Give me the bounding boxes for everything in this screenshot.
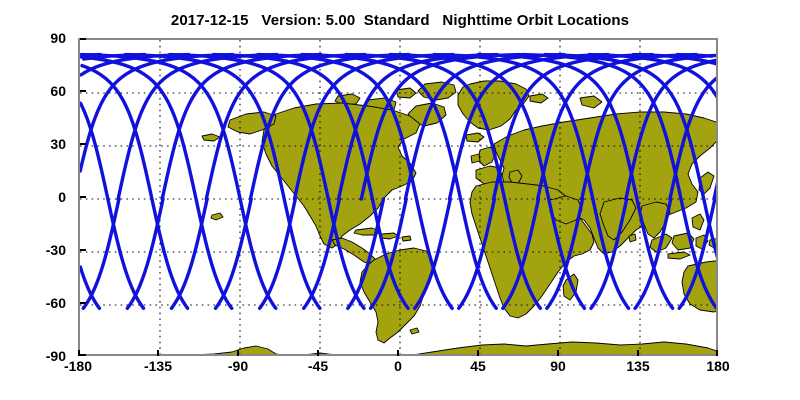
- xtick-label-45: 45: [448, 358, 508, 374]
- antarctica-shape: [80, 342, 718, 356]
- ytick-label-60: 60: [26, 83, 66, 99]
- iceland-shape: [466, 133, 484, 142]
- ytick-label--30: -30: [26, 242, 66, 258]
- xtick-label-90: 90: [528, 358, 588, 374]
- xtick-mark--90: [237, 350, 239, 356]
- xtick-mark--45: [317, 350, 319, 356]
- xtick-mark-90: [557, 350, 559, 356]
- svalbard-shape: [530, 94, 548, 103]
- xtick-label-180: 180: [688, 358, 748, 374]
- ireland-shape: [471, 154, 480, 163]
- ytick-mark-60: [80, 90, 86, 92]
- xtick-mark-135: [637, 350, 639, 356]
- xtick-label--90: -90: [208, 358, 268, 374]
- xtick-label-0: 0: [368, 358, 428, 374]
- ytick-label-0: 0: [26, 189, 66, 205]
- xtick-mark-0: [397, 350, 399, 356]
- sri-lanka-shape: [629, 234, 636, 242]
- ytick-label--60: -60: [26, 295, 66, 311]
- xtick-label--135: -135: [128, 358, 188, 374]
- philippines-shape: [692, 214, 704, 230]
- xtick-mark--135: [157, 350, 159, 356]
- orbit-track-segment: [589, 55, 718, 102]
- world-map-svg: [80, 40, 718, 356]
- xtick-mark--180: [78, 350, 80, 356]
- page-title: 2017-12-15 Version: 5.00 Standard Nightt…: [0, 12, 800, 29]
- ytick-mark-30: [80, 143, 86, 145]
- ytick-label-90: 90: [26, 30, 66, 46]
- falkland-islands-shape: [410, 328, 419, 334]
- ytick-mark-90: [80, 38, 86, 40]
- aleutian-islands-shape: [202, 134, 220, 141]
- orbit-track-segment: [80, 55, 233, 171]
- xtick-label--45: -45: [288, 358, 348, 374]
- plot-frame: [78, 38, 718, 356]
- ytick-label-30: 30: [26, 136, 66, 152]
- xtick-label--180: -180: [48, 358, 108, 374]
- java-shape: [668, 252, 690, 259]
- xtick-mark-45: [477, 350, 479, 356]
- orbit-track-segment: [714, 173, 718, 199]
- xtick-mark-180: [716, 350, 718, 356]
- orbit-map-figure: [78, 38, 718, 356]
- orbit-track-segment: [82, 66, 188, 309]
- ytick-mark--90: [80, 354, 86, 356]
- caribbean-island-small: [402, 236, 411, 241]
- hawaii-shape: [211, 213, 223, 220]
- novaya-zemlya-shape: [580, 96, 602, 108]
- ytick-mark--30: [80, 249, 86, 251]
- hispaniola-shape: [381, 233, 398, 239]
- ytick-mark--60: [80, 302, 86, 304]
- ytick-mark-0: [80, 196, 86, 198]
- xtick-label-135: 135: [608, 358, 668, 374]
